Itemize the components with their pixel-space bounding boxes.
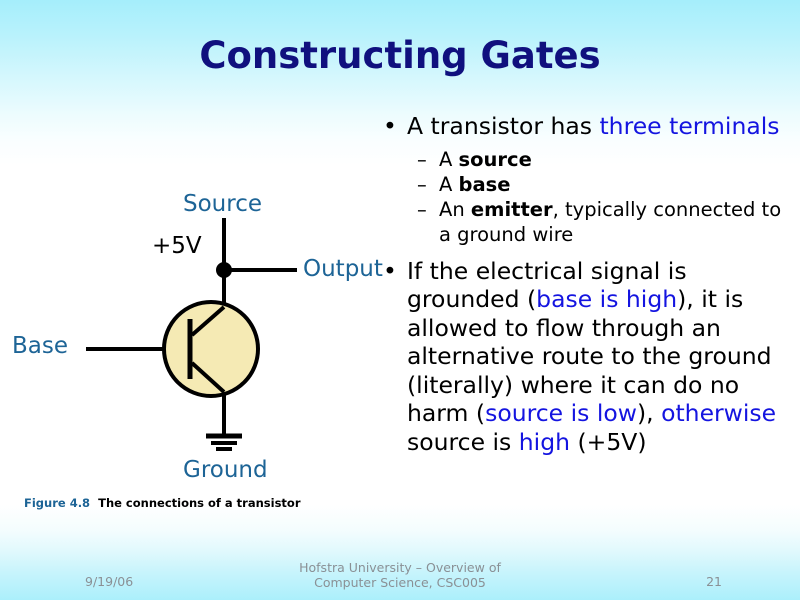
sub-bullet-item-base: –A base xyxy=(375,172,790,197)
junction-dot xyxy=(216,262,232,278)
diagram-label-output: Output xyxy=(303,256,383,282)
figure-caption: Figure 4.8 The connections of a transist… xyxy=(24,496,301,510)
slide-footer: 9/19/06 Hofstra University – Overview of… xyxy=(0,556,800,596)
diagram-label-ground: Ground xyxy=(183,457,268,483)
figure-number: Figure 4.8 xyxy=(24,496,90,510)
diagram-label-voltage: +5V xyxy=(152,233,202,259)
bullet-marker: • xyxy=(383,257,397,286)
bullet-2-seg9: (+5V) xyxy=(570,428,647,456)
bullet-1-highlight: three terminals xyxy=(599,112,779,140)
transistor-diagram: Source Output Base Ground +5V Figure 4.8… xyxy=(0,185,375,525)
sub-bullet-marker: – xyxy=(417,147,427,172)
sub-bullet-item-source: –A source xyxy=(375,147,790,172)
sub-bullet-item-emitter: –An emitter, typically connected to a gr… xyxy=(375,197,790,247)
footer-page-number: 21 xyxy=(706,574,722,589)
bullet-1-text-plain: A transistor has xyxy=(407,112,599,140)
bullet-item-2: •If the electrical signal is grounded (b… xyxy=(375,257,790,457)
page-title: Constructing Gates xyxy=(0,36,800,77)
sub-bullet-term: emitter xyxy=(471,198,553,221)
sub-bullet-prefix: A xyxy=(439,173,459,196)
sub-bullet-term: base xyxy=(459,173,511,196)
sub-bullet-prefix: A xyxy=(439,148,459,171)
bullet-2-highlight-otherwise: otherwise xyxy=(661,399,776,427)
figure-caption-spacer xyxy=(90,496,98,510)
bullet-item-1: •A transistor has three terminals xyxy=(375,112,790,141)
figure-caption-text: The connections of a transistor xyxy=(98,496,300,510)
slide-body: •A transistor has three terminals –A sou… xyxy=(375,112,790,456)
diagram-label-source: Source xyxy=(183,191,262,217)
sub-bullet-prefix: An xyxy=(439,198,471,221)
diagram-label-base: Base xyxy=(12,333,68,359)
bullet-2-seg5: ), xyxy=(637,399,661,427)
bullet-2-highlight-high: high xyxy=(519,428,570,456)
slide: Constructing Gates xyxy=(0,0,800,600)
bullet-2-highlight-source-low: source is low xyxy=(485,399,637,427)
sub-bullet-marker: – xyxy=(417,197,427,222)
sub-bullet-term: source xyxy=(459,148,532,171)
bullet-marker: • xyxy=(383,112,397,141)
footer-line-2: Computer Science, CSC005 xyxy=(0,575,800,590)
footer-center: Hofstra University – Overview of Compute… xyxy=(0,560,800,590)
sub-bullet-marker: – xyxy=(417,172,427,197)
bullet-2-highlight-base-high: base is high xyxy=(536,285,677,313)
footer-line-1: Hofstra University – Overview of xyxy=(0,560,800,575)
sub-bullet-group: –A source –A base –An emitter, typically… xyxy=(375,147,790,247)
bullet-2-seg7: source is xyxy=(407,428,519,456)
